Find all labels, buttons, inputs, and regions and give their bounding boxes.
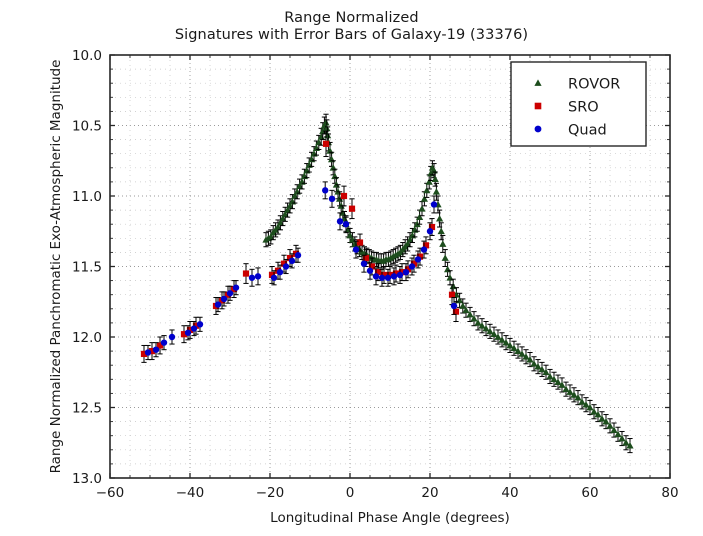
x-axis-title: Longitudinal Phase Angle (degrees) — [270, 510, 510, 526]
data-point-circle — [277, 269, 283, 275]
xtick-label: 40 — [501, 485, 518, 501]
data-point-circle — [271, 275, 277, 281]
xtick-label: −40 — [176, 485, 205, 501]
y-axis-title: Range Normalized Panchromatic Exo-Atmosp… — [48, 60, 64, 474]
data-point-circle — [427, 228, 433, 234]
data-point-circle — [322, 187, 328, 193]
xtick-label: −60 — [96, 485, 125, 501]
data-point-circle — [397, 272, 403, 278]
data-point-circle — [161, 339, 167, 345]
data-point-circle — [233, 284, 239, 290]
xtick-label: 60 — [581, 485, 598, 501]
data-point-circle — [191, 325, 197, 331]
data-point-circle — [343, 221, 349, 227]
data-point-circle — [289, 258, 295, 264]
data-point-circle — [153, 346, 159, 352]
xtick-label: 0 — [346, 485, 355, 501]
ytick-label: 10.5 — [72, 119, 102, 135]
data-point-circle — [249, 275, 255, 281]
data-point-circle — [367, 268, 373, 274]
data-point-circle — [421, 246, 427, 252]
data-point-circle — [295, 252, 301, 258]
data-point-circle — [385, 275, 391, 281]
data-point-circle — [227, 290, 233, 296]
xtick-label: 20 — [421, 485, 438, 501]
xtick-label: −20 — [256, 485, 285, 501]
legend-marker-square — [535, 103, 542, 110]
data-point-square — [323, 141, 329, 147]
data-point-circle — [221, 296, 227, 302]
data-point-square — [243, 270, 249, 276]
legend-label: ROVOR — [568, 77, 620, 93]
data-point-square — [341, 193, 347, 199]
ytick-label: 13.0 — [72, 471, 102, 487]
plot-canvas: −60−40−2002040608010.010.511.011.512.012… — [0, 0, 703, 536]
data-point-circle — [255, 273, 261, 279]
data-point-circle — [283, 263, 289, 269]
data-point-circle — [431, 201, 437, 207]
data-point-circle — [197, 321, 203, 327]
xtick-label: 80 — [661, 485, 678, 501]
data-point-circle — [145, 349, 151, 355]
data-point-circle — [379, 275, 385, 281]
data-point-circle — [329, 196, 335, 202]
data-point-circle — [353, 246, 359, 252]
data-point-circle — [169, 334, 175, 340]
data-point-circle — [403, 269, 409, 275]
data-point-circle — [361, 260, 367, 266]
chart-figure: Range Normalized Signatures with Error B… — [0, 0, 703, 536]
data-point-square — [349, 206, 355, 212]
data-point-circle — [451, 303, 457, 309]
legend-marker-circle — [535, 126, 542, 133]
legend-label: SRO — [568, 100, 599, 116]
data-point-square — [449, 292, 455, 298]
data-point-circle — [409, 263, 415, 269]
chart-legend: ROVORSROQuad — [511, 62, 646, 146]
data-point-square — [357, 239, 363, 245]
ytick-label: 12.5 — [72, 401, 102, 417]
data-point-circle — [215, 301, 221, 307]
ytick-label: 11.5 — [72, 260, 102, 276]
ytick-label: 12.0 — [72, 330, 102, 346]
legend-label: Quad — [568, 123, 607, 139]
data-point-circle — [415, 256, 421, 262]
ytick-label: 11.0 — [72, 189, 102, 205]
data-point-circle — [337, 218, 343, 224]
data-point-circle — [373, 273, 379, 279]
ytick-label: 10.0 — [72, 48, 102, 64]
data-point-circle — [185, 330, 191, 336]
data-point-circle — [391, 273, 397, 279]
